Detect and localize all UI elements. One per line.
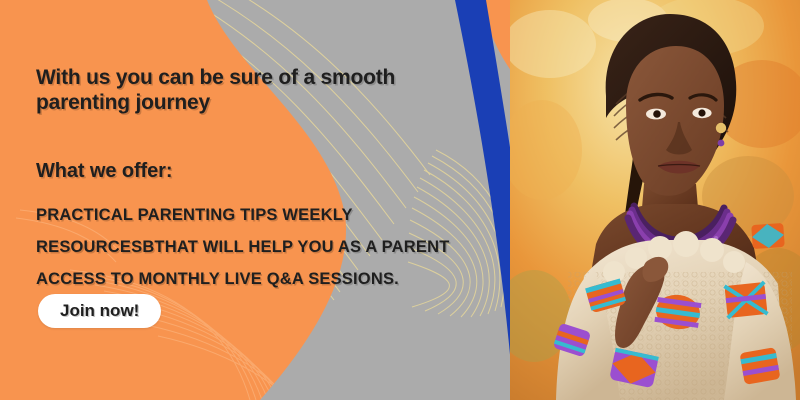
offer-list: PRACTICAL PARENTING TIPS WEEKLY RESOURCE…: [36, 206, 456, 302]
portrait-photo-illustration: [510, 0, 800, 400]
earring: [716, 123, 726, 133]
promo-banner: With us you can be sure of a smooth pare…: [0, 0, 800, 400]
list-item: ACCESS TO MONTHLY LIVE Q&A SESSIONS.: [36, 270, 456, 289]
page-title: With us you can be sure of a smooth pare…: [36, 66, 436, 116]
offer-heading: What we offer:: [36, 160, 172, 183]
join-now-button[interactable]: Join now!: [38, 294, 161, 328]
list-item: PRACTICAL PARENTING TIPS WEEKLY: [36, 206, 456, 225]
model-photo: [510, 0, 800, 400]
list-item: RESOURCESBTHAT WILL HELP YOU AS A PARENT: [36, 238, 456, 257]
